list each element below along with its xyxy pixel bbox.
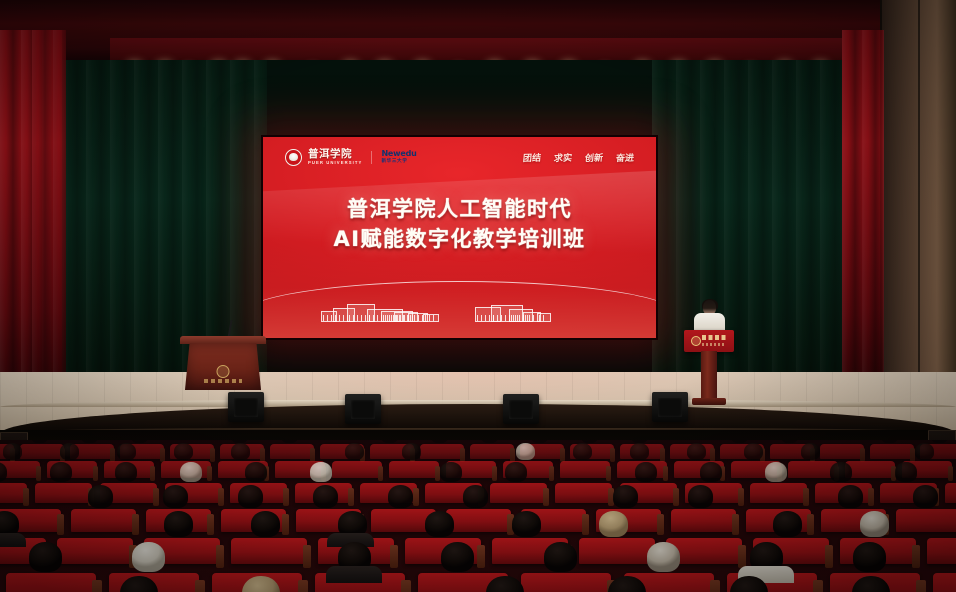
audience-member <box>441 542 474 572</box>
skyline-building-windows <box>525 315 537 321</box>
audience-member <box>599 511 628 537</box>
audience-member <box>431 440 448 443</box>
seat-armrest <box>216 545 224 568</box>
university-crest-icon <box>691 336 701 346</box>
auditorium-photo: 普洱学院 PUER UNIVERSITY Newedu 新华三大学 团结 求实 … <box>0 0 956 592</box>
audience-member <box>60 443 79 460</box>
audience-member <box>853 542 886 572</box>
campus-skyline-graphic <box>263 284 656 330</box>
lectern-front-panel <box>684 330 734 352</box>
theater-seat[interactable] <box>332 461 382 478</box>
audience-member <box>613 485 638 508</box>
seat-armrest <box>803 488 809 506</box>
seat-armrest <box>549 466 555 481</box>
audience-member <box>505 462 527 482</box>
seat-armrest <box>303 545 311 568</box>
audience-member <box>744 443 763 460</box>
seat-armrest <box>160 448 165 462</box>
seat-armrest <box>283 488 289 506</box>
theater-seat[interactable] <box>750 483 807 503</box>
seat-armrest <box>298 580 308 592</box>
audience-member <box>915 443 934 460</box>
presenter-podium <box>183 336 263 394</box>
brand-lockup: 普洱学院 PUER UNIVERSITY Newedu 新华三大学 <box>285 149 417 166</box>
skyline-building-windows <box>410 315 424 321</box>
audience-member <box>132 542 165 572</box>
theater-seat[interactable] <box>845 461 895 478</box>
seat-armrest <box>378 466 384 481</box>
audience-member <box>630 443 649 460</box>
event-title-line-2: AI赋能数字化教学培训班 <box>263 225 656 255</box>
university-crest-icon <box>217 365 230 378</box>
seat-armrest <box>610 448 615 462</box>
audience-member <box>731 440 748 443</box>
audience-member <box>180 462 202 482</box>
seat-armrest <box>916 580 926 592</box>
seat-armrest <box>282 514 289 535</box>
audience-member <box>573 443 592 460</box>
seat-armrest <box>210 448 215 462</box>
seat-armrest <box>150 466 156 481</box>
seat-armrest <box>492 466 498 481</box>
side-curtain-left-inner <box>32 30 66 405</box>
theater-seat[interactable] <box>57 538 133 564</box>
led-display-screen: 普洱学院 PUER UNIVERSITY Newedu 新华三大学 团结 求实 … <box>261 135 658 340</box>
lectern-name-text <box>702 335 728 340</box>
seat-armrest <box>460 448 465 462</box>
brand-divider <box>371 151 372 164</box>
lectern-subtitle-text <box>702 343 726 346</box>
podium-name-plate <box>204 379 242 383</box>
skyline-building-windows <box>425 315 435 321</box>
seat-armrest <box>310 448 315 462</box>
speaker-lectern <box>684 330 734 408</box>
theater-seat[interactable] <box>389 461 439 478</box>
theater-seat[interactable] <box>927 538 956 564</box>
seat-armrest <box>710 448 715 462</box>
theater-seat[interactable] <box>933 573 956 592</box>
university-name-en: PUER UNIVERSITY <box>308 161 362 165</box>
seat-armrest <box>663 466 669 481</box>
lectern-stem <box>701 351 717 399</box>
motto-word-3: 创新 <box>584 150 603 164</box>
audience-member <box>773 511 802 537</box>
audience-member <box>860 511 889 537</box>
audience-member <box>425 511 454 537</box>
audience-member <box>895 462 917 482</box>
theater-seat[interactable] <box>945 483 956 503</box>
seat-armrest <box>807 514 814 535</box>
seat-armrest <box>390 545 398 568</box>
audience-member <box>781 440 798 443</box>
theater-seat[interactable] <box>560 461 610 478</box>
speaker-at-lectern <box>692 300 726 334</box>
seat-armrest <box>477 545 485 568</box>
audience-member <box>310 462 332 482</box>
audience-member <box>174 443 193 460</box>
seat-armrest <box>868 488 874 506</box>
stage-floor-monitor <box>652 392 688 422</box>
audience-member <box>238 485 263 508</box>
seat-armrest <box>582 514 589 535</box>
stage-floor-monitor <box>345 394 381 424</box>
stage-curtain-right <box>652 60 857 408</box>
audience-member <box>463 485 488 508</box>
audience-member <box>830 462 852 482</box>
seat-armrest <box>207 514 214 535</box>
audience-member <box>881 440 898 443</box>
partner-name-en: Newedu <box>381 150 416 158</box>
audience-member <box>81 440 98 443</box>
audience-member <box>115 462 137 482</box>
event-title-line-1: 普洱学院人工智能时代 <box>263 195 656 225</box>
side-curtain-right-inner <box>862 30 884 402</box>
theater-seat[interactable] <box>579 538 655 564</box>
seat-armrest <box>413 488 419 506</box>
seat-armrest <box>732 514 739 535</box>
audience-member <box>345 443 364 460</box>
audience-member <box>313 485 338 508</box>
seat-armrest <box>657 514 664 535</box>
partner-name-cn: 新华三大学 <box>381 159 416 164</box>
audience-member <box>531 440 548 443</box>
seat-armrest <box>738 545 746 568</box>
audience-member <box>88 485 113 508</box>
theater-seat[interactable] <box>231 538 307 564</box>
seat-armrest <box>110 448 115 462</box>
audience-member <box>647 542 680 572</box>
audience-member <box>516 443 535 460</box>
audience-member <box>131 440 148 443</box>
wall-seam <box>918 0 920 430</box>
theater-seat[interactable] <box>671 509 736 532</box>
theater-seat[interactable] <box>446 509 511 532</box>
screen-header-bar: 普洱学院 PUER UNIVERSITY Newedu 新华三大学 团结 求实 … <box>263 145 656 169</box>
seat-armrest <box>92 580 102 592</box>
audience-member <box>388 485 413 508</box>
theater-seat[interactable] <box>270 444 314 459</box>
seat-armrest <box>401 580 411 592</box>
lectern-base <box>692 398 726 405</box>
school-motto: 团结 求实 创新 奋进 <box>523 151 634 164</box>
stage-floor-monitor <box>228 392 264 422</box>
audience-member <box>163 485 188 508</box>
audience-member <box>251 511 280 537</box>
motto-word-2: 求实 <box>553 150 572 164</box>
seat-armrest <box>660 448 665 462</box>
skyline-building-windows <box>323 315 333 321</box>
seat-armrest <box>153 488 159 506</box>
theater-seat[interactable] <box>420 444 464 459</box>
theater-seat[interactable] <box>555 483 612 503</box>
seat-armrest <box>543 488 549 506</box>
theater-seat[interactable] <box>470 444 514 459</box>
audience-member <box>688 485 713 508</box>
seat-armrest <box>710 580 720 592</box>
seat-armrest <box>673 488 679 506</box>
theater-seat[interactable] <box>896 509 956 532</box>
stage-floor-monitor <box>503 394 539 424</box>
event-title: 普洱学院人工智能时代 AI赋能数字化教学培训班 <box>263 195 656 255</box>
theater-seat[interactable] <box>490 483 547 503</box>
seat-armrest <box>57 514 64 535</box>
audience-member <box>281 440 298 443</box>
seat-armrest <box>948 466 954 481</box>
seat-armrest <box>348 488 354 506</box>
seat-armrest <box>132 514 139 535</box>
audience-member <box>245 462 267 482</box>
audience-member <box>931 440 948 443</box>
theater-seat[interactable] <box>521 573 611 592</box>
audience-member <box>440 462 462 482</box>
seat-armrest <box>606 466 612 481</box>
motto-word-4: 奋进 <box>615 150 634 164</box>
seat-armrest <box>207 466 213 481</box>
seat-armrest <box>912 545 920 568</box>
seat-armrest <box>510 448 515 462</box>
seat-armrest <box>36 466 42 481</box>
audience-member <box>3 443 22 460</box>
theater-seat[interactable] <box>870 444 914 459</box>
audience-member <box>544 542 577 572</box>
motto-word-1: 团结 <box>522 150 541 164</box>
audience-member <box>481 440 498 443</box>
seated-audience <box>0 440 956 592</box>
university-crest-icon <box>285 149 302 166</box>
theater-seat[interactable] <box>20 444 64 459</box>
seat-armrest <box>825 545 833 568</box>
audience-member <box>31 440 48 443</box>
seat-armrest <box>560 448 565 462</box>
seat-armrest <box>260 448 265 462</box>
seat-armrest <box>23 488 29 506</box>
audience-member <box>164 511 193 537</box>
audience-member <box>402 443 421 460</box>
audience-member <box>50 462 72 482</box>
audience-member <box>29 542 62 572</box>
theater-seat[interactable] <box>35 483 92 503</box>
audience-member <box>381 440 398 443</box>
audience-member <box>801 443 820 460</box>
audience-member <box>635 462 657 482</box>
skyline-building-windows <box>539 315 547 321</box>
audience-member <box>117 443 136 460</box>
audience-member <box>512 511 541 537</box>
theater-seat[interactable] <box>71 509 136 532</box>
audience-member <box>765 462 787 482</box>
university-name-cn: 普洱学院 <box>308 149 362 160</box>
seat-armrest <box>860 448 865 462</box>
podium-body <box>185 343 261 390</box>
audience-member <box>913 485 938 508</box>
audience-member <box>231 443 250 460</box>
seat-armrest <box>93 466 99 481</box>
seat-armrest <box>218 488 224 506</box>
seat-armrest <box>813 580 823 592</box>
audience-member-shoulders <box>326 566 382 583</box>
theater-seat[interactable] <box>6 573 96 592</box>
theater-seat[interactable] <box>820 444 864 459</box>
audience-member <box>687 443 706 460</box>
seat-armrest <box>738 488 744 506</box>
seat-armrest <box>195 580 205 592</box>
audience-member <box>700 462 722 482</box>
audience-member-shoulders <box>0 533 26 547</box>
audience-member <box>838 485 863 508</box>
podium-top <box>180 336 266 344</box>
